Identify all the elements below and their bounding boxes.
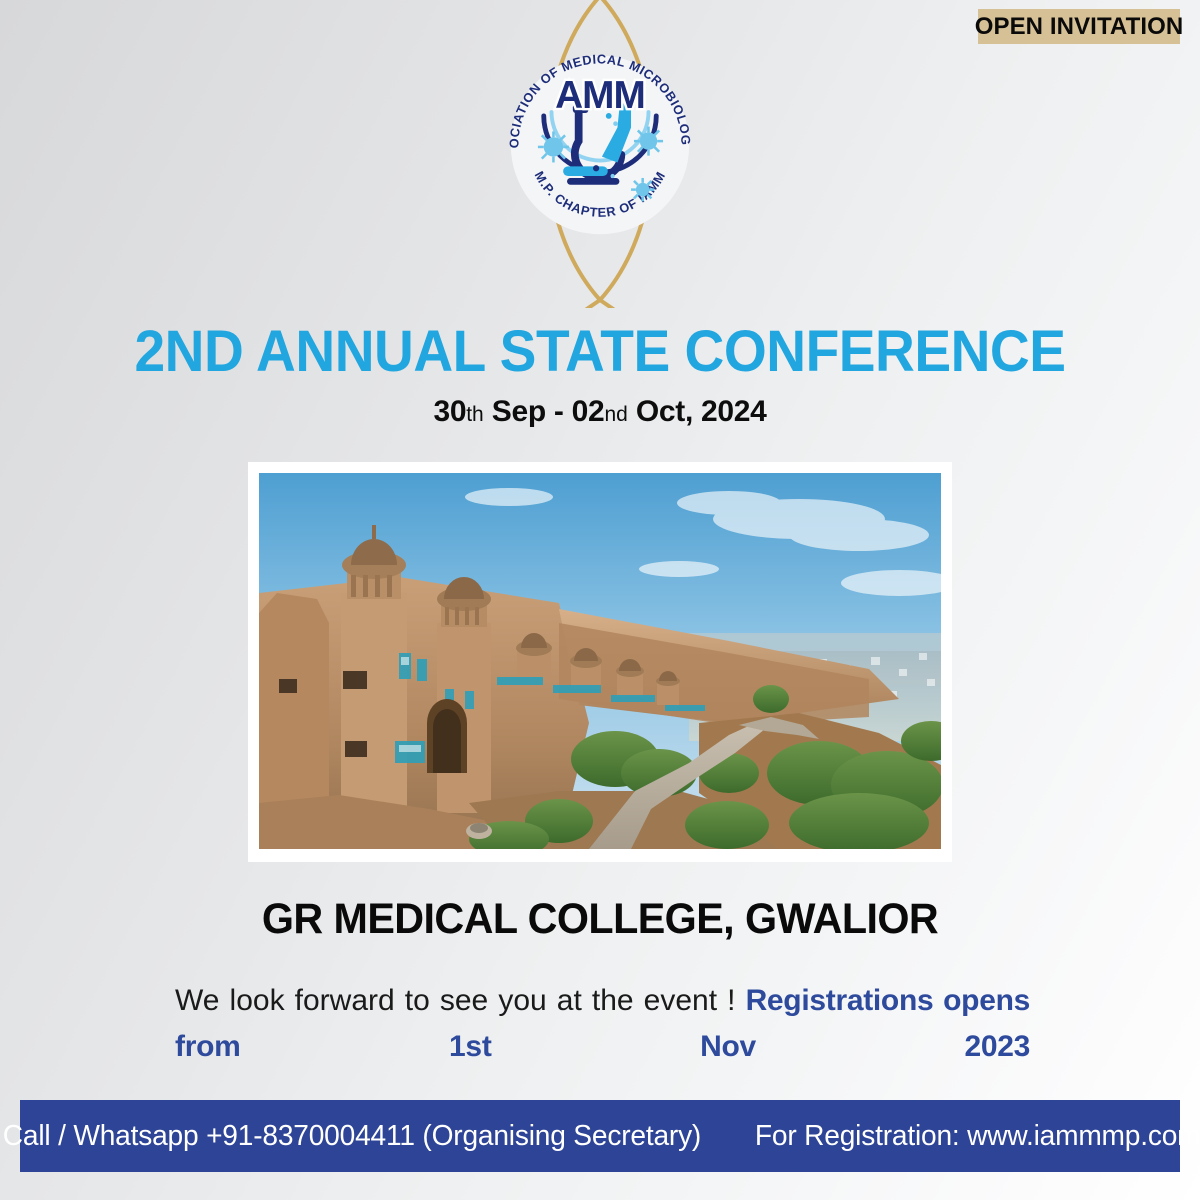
venue-name: GR MEDICAL COLLEGE, GWALIOR <box>24 896 1176 943</box>
date-end-month: Oct, 2024 <box>628 395 767 428</box>
page-title: 2ND ANNUAL STATE CONFERENCE <box>30 322 1170 383</box>
gwalior-fort-photo <box>259 473 941 849</box>
logo-acronym: AMM <box>555 74 645 117</box>
date-end-ordinal: nd <box>604 403 627 426</box>
footer-contact-bar: Call / Whatsapp +91-8370004411 (Organisi… <box>20 1100 1180 1172</box>
open-invitation-badge: OPEN INVITATION <box>978 9 1180 44</box>
date-start-ordinal: th <box>466 403 484 426</box>
footer-registration-text[interactable]: For Registration: www.iammmp.com <box>755 1120 1200 1153</box>
open-invitation-label: OPEN INVITATION <box>975 15 1184 39</box>
date-start-month: Sep - <box>484 395 572 428</box>
conference-dates: 30th Sep - 02nd Oct, 2024 <box>0 395 1200 428</box>
invitation-message: We look forward to see you at the event … <box>175 978 1030 1116</box>
venue-photo-frame <box>248 462 952 862</box>
date-start-day: 30 <box>433 395 466 428</box>
footer-contact-text[interactable]: Call / Whatsapp +91-8370004411 (Organisi… <box>3 1120 701 1153</box>
message-plain-text: We look forward to see you at the event … <box>175 984 746 1017</box>
invitation-poster: OPEN INVITATION ASSOCIATION OF MEDICAL M… <box>0 0 1200 1200</box>
date-end-day: 02 <box>572 395 605 428</box>
amm-logo: ASSOCIATION OF MEDICAL MICROBIOLOGISTS M… <box>503 48 697 242</box>
